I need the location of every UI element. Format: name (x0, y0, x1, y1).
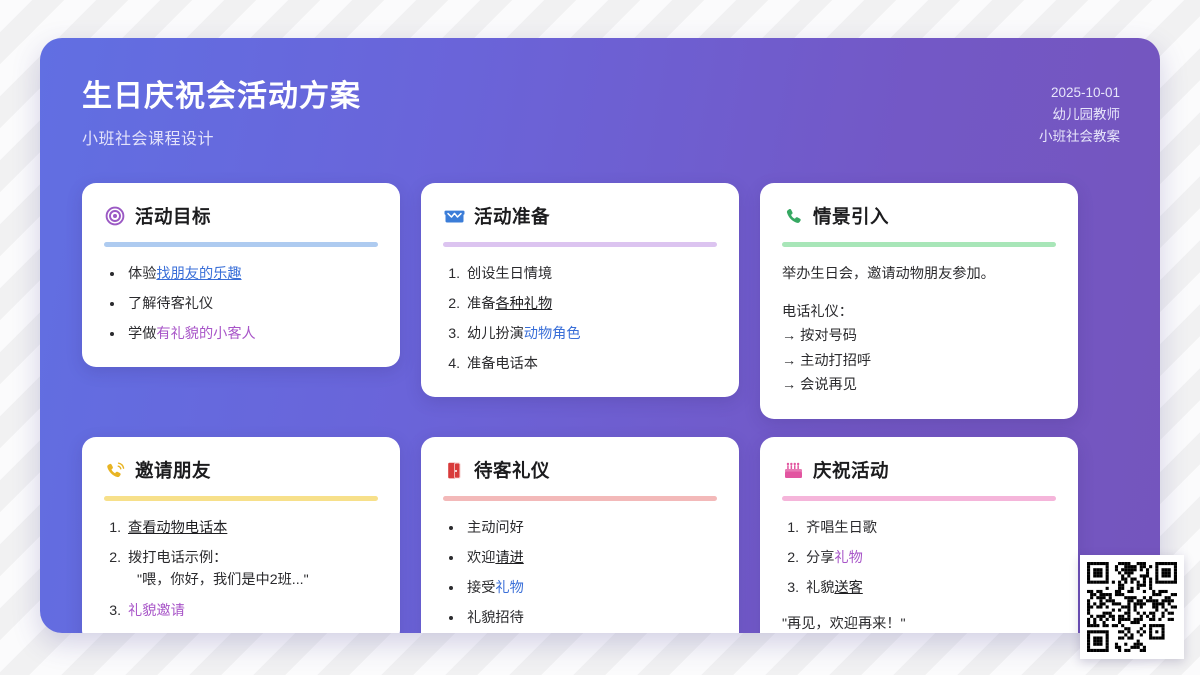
page-title: 生日庆祝会活动方案 (82, 78, 361, 116)
text-segment-plain: 体验 (128, 266, 156, 282)
text-segment-underline: 送客 (834, 580, 862, 596)
meta-author: 幼儿园教师 (1039, 104, 1120, 126)
list-item: 查看动物电话本 (125, 517, 378, 539)
text-segment-plain: 欢迎 (467, 550, 495, 566)
list-item: 准备电话本 (464, 353, 717, 375)
text-segment-underline: 查看动物电话本 (128, 520, 227, 536)
list-item: 接受礼物 (464, 577, 717, 599)
list-item: 礼貌招待 (464, 607, 717, 629)
text-segment-plain: 了解待客礼仪 (128, 296, 213, 312)
list-item: 幼儿扮演动物角色 (464, 323, 717, 345)
text-segment-underline: 请进 (495, 550, 523, 566)
card-header: 邀请朋友 (104, 457, 378, 483)
card-list: 主动问好欢迎请进接受礼物礼貌招待 (443, 517, 717, 629)
card-header: 活动准备 (443, 203, 717, 229)
list-item: 拨打电话示例："喂，你好，我们是中2班..." (125, 547, 378, 592)
text-segment-plain: 主动问好 (467, 520, 524, 536)
card-header: 庆祝活动 (782, 457, 1056, 483)
text-segment-blue: 动物角色 (524, 326, 581, 342)
gift-box-icon (443, 205, 465, 227)
text-segment-plain: 礼貌 (806, 580, 834, 596)
text-segment-highlight: 礼貌邀请 (128, 603, 185, 619)
card-header: 待客礼仪 (443, 457, 717, 483)
card-title: 邀请朋友 (135, 457, 211, 483)
card-title: 情景引入 (813, 203, 889, 229)
card-arrow-item: → 主动打招呼 (782, 349, 1056, 373)
meta-date: 2025-10-01 (1039, 82, 1120, 104)
card-title: 待客礼仪 (474, 457, 550, 483)
text-segment-plain: 礼貌招待 (467, 610, 524, 626)
card-title: 庆祝活动 (813, 457, 889, 483)
list-item: 礼貌送客 (803, 577, 1056, 599)
card-list: 齐唱生日歌分享礼物礼貌送客 (782, 517, 1056, 599)
card-header: 活动目标 (104, 203, 378, 229)
text-segment-blue: 礼物 (495, 580, 523, 596)
text-segment-plain: 齐唱生日歌 (806, 520, 877, 536)
card-accent-bar (443, 242, 717, 247)
header-meta: 2025-10-01 幼儿园教师 小班社会教案 (1039, 78, 1120, 148)
target-icon (104, 205, 126, 227)
card-accent-bar (104, 496, 378, 501)
card-arrow-item: → 按对号码 (782, 324, 1056, 348)
card-list: 体验找朋友的乐趣了解待客礼仪学做有礼貌的小客人 (104, 263, 378, 345)
text-segment-plain: 拨打电话示例： (128, 550, 227, 566)
card-paragraph: 举办生日会，邀请动物朋友参加。 (782, 263, 1056, 286)
qr-code[interactable] (1080, 555, 1184, 659)
card-body: 齐唱生日歌分享礼物礼貌送客"再见，欢迎再来！" (782, 517, 1056, 633)
card-accent-bar (782, 496, 1056, 501)
text-segment-link[interactable]: 找朋友的乐趣 (156, 266, 241, 282)
text-segment-plain: 准备 (467, 296, 495, 312)
meta-category: 小班社会教案 (1039, 126, 1120, 148)
card-arrow-item: → 会说再见 (782, 373, 1056, 397)
text-segment-plain: 学做 (128, 326, 156, 342)
text-segment-plain: 准备电话本 (467, 356, 538, 372)
door-icon (443, 459, 465, 481)
list-item: 创设生日情境 (464, 263, 717, 285)
card-host-etiquette: 待客礼仪主动问好欢迎请进接受礼物礼貌招待 (421, 437, 739, 633)
card-accent-bar (443, 496, 717, 501)
card-accent-bar (104, 242, 378, 247)
card-grid: 活动目标体验找朋友的乐趣了解待客礼仪学做有礼貌的小客人活动准备创设生日情境准备各… (82, 183, 1118, 633)
text-segment-underline: 各种礼物 (495, 296, 552, 312)
ringing-phone-icon (104, 459, 126, 481)
qr-code-image (1087, 562, 1177, 652)
list-item: 体验找朋友的乐趣 (125, 263, 378, 285)
card-list: 创设生日情境准备各种礼物幼儿扮演动物角色准备电话本 (443, 263, 717, 375)
phone-icon (782, 205, 804, 227)
list-item: 欢迎请进 (464, 547, 717, 569)
list-item: 礼貌邀请 (125, 600, 378, 622)
card-accent-bar (782, 242, 1056, 247)
list-item: 主动问好 (464, 517, 717, 539)
birthday-cake-icon (782, 459, 804, 481)
slide-panel: 生日庆祝会活动方案 小班社会课程设计 2025-10-01 幼儿园教师 小班社会… (40, 38, 1160, 633)
list-item: 学做有礼貌的小客人 (125, 323, 378, 345)
inline-quote: "喂，你好，我们是中2班..." (128, 569, 378, 592)
header-titles: 生日庆祝会活动方案 小班社会课程设计 (82, 78, 361, 149)
card-scene-introduction: 情景引入举办生日会，邀请动物朋友参加。电话礼仪：→ 按对号码→ 主动打招呼→ 会… (760, 183, 1078, 419)
text-segment-plain: 创设生日情境 (467, 266, 552, 282)
card-activity-preparation: 活动准备创设生日情境准备各种礼物幼儿扮演动物角色准备电话本 (421, 183, 739, 397)
slide-header: 生日庆祝会活动方案 小班社会课程设计 2025-10-01 幼儿园教师 小班社会… (82, 78, 1120, 149)
list-item: 了解待客礼仪 (125, 293, 378, 315)
text-segment-plain: 分享 (806, 550, 834, 566)
text-segment-highlight: 礼物 (834, 550, 862, 566)
card-body: 查看动物电话本拨打电话示例："喂，你好，我们是中2班..."礼貌邀请 (104, 517, 378, 622)
text-segment-plain: 接受 (467, 580, 495, 596)
card-invite-friends: 邀请朋友查看动物电话本拨打电话示例："喂，你好，我们是中2班..."礼貌邀请 (82, 437, 400, 633)
card-body: 创设生日情境准备各种礼物幼儿扮演动物角色准备电话本 (443, 263, 717, 375)
card-title: 活动目标 (135, 203, 211, 229)
card-list: 查看动物电话本拨打电话示例："喂，你好，我们是中2班..."礼貌邀请 (104, 517, 378, 622)
card-header: 情景引入 (782, 203, 1056, 229)
card-body: 举办生日会，邀请动物朋友参加。电话礼仪：→ 按对号码→ 主动打招呼→ 会说再见 (782, 263, 1056, 397)
card-activity-goal: 活动目标体验找朋友的乐趣了解待客礼仪学做有礼貌的小客人 (82, 183, 400, 367)
card-body: 体验找朋友的乐趣了解待客礼仪学做有礼貌的小客人 (104, 263, 378, 345)
list-item: 准备各种礼物 (464, 293, 717, 315)
list-item: 分享礼物 (803, 547, 1056, 569)
card-body: 主动问好欢迎请进接受礼物礼貌招待 (443, 517, 717, 629)
closing-quote: "再见，欢迎再来！" (782, 613, 1056, 633)
text-segment-plain: 幼儿扮演 (467, 326, 524, 342)
card-sub-heading: 电话礼仪： (782, 300, 1056, 324)
list-item: 齐唱生日歌 (803, 517, 1056, 539)
card-title: 活动准备 (474, 203, 550, 229)
page-subtitle: 小班社会课程设计 (82, 125, 361, 149)
text-segment-highlight: 有礼貌的小客人 (156, 326, 255, 342)
card-celebration-activity: 庆祝活动齐唱生日歌分享礼物礼貌送客"再见，欢迎再来！" (760, 437, 1078, 633)
